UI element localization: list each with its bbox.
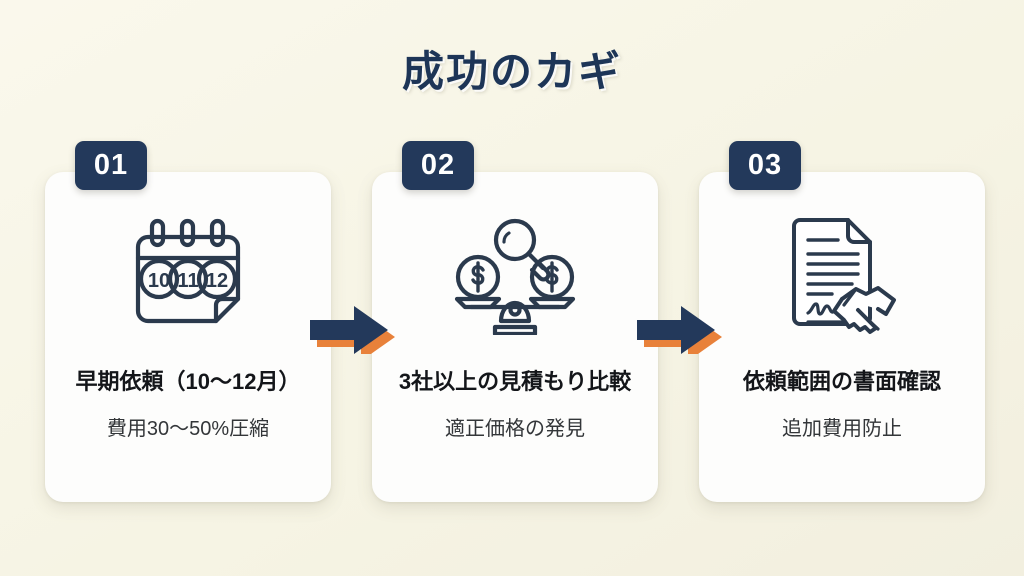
- step-title-1: 早期依頼（10〜12月）: [51, 364, 325, 396]
- step-title-2: 3社以上の見積もり比較: [378, 364, 652, 396]
- calendar-month-1: 10: [148, 270, 170, 292]
- arrow-right-icon: [629, 298, 725, 354]
- step-subtitle-1: 費用30〜50%圧縮: [51, 412, 325, 441]
- calendar-month-3: 12: [206, 270, 228, 292]
- step-card-3[interactable]: 03: [699, 172, 985, 502]
- step-number-badge-1: 01: [75, 141, 147, 190]
- step-subtitle-3: 追加費用防止: [705, 412, 979, 441]
- step-title-3: 依頼範囲の書面確認: [705, 364, 979, 396]
- calendar-month-2: 11: [177, 270, 198, 292]
- balance-scale-magnifier-icon: [372, 208, 658, 344]
- page-title: 成功のカギ: [0, 38, 1024, 99]
- step-number-badge-3: 03: [729, 141, 801, 190]
- slide-canvas: 成功のカギ 01: [0, 0, 1024, 576]
- calendar-icon: 10 11 12: [45, 208, 331, 344]
- step-subtitle-2: 適正価格の発見: [378, 412, 652, 441]
- step-card-2[interactable]: 02: [372, 172, 658, 502]
- contract-handshake-icon: [699, 208, 985, 344]
- arrow-right-icon: [302, 298, 398, 354]
- step-card-1[interactable]: 01 10 11: [45, 172, 331, 502]
- steps-row: 01 10 11: [45, 172, 979, 502]
- step-number-badge-2: 02: [402, 141, 474, 190]
